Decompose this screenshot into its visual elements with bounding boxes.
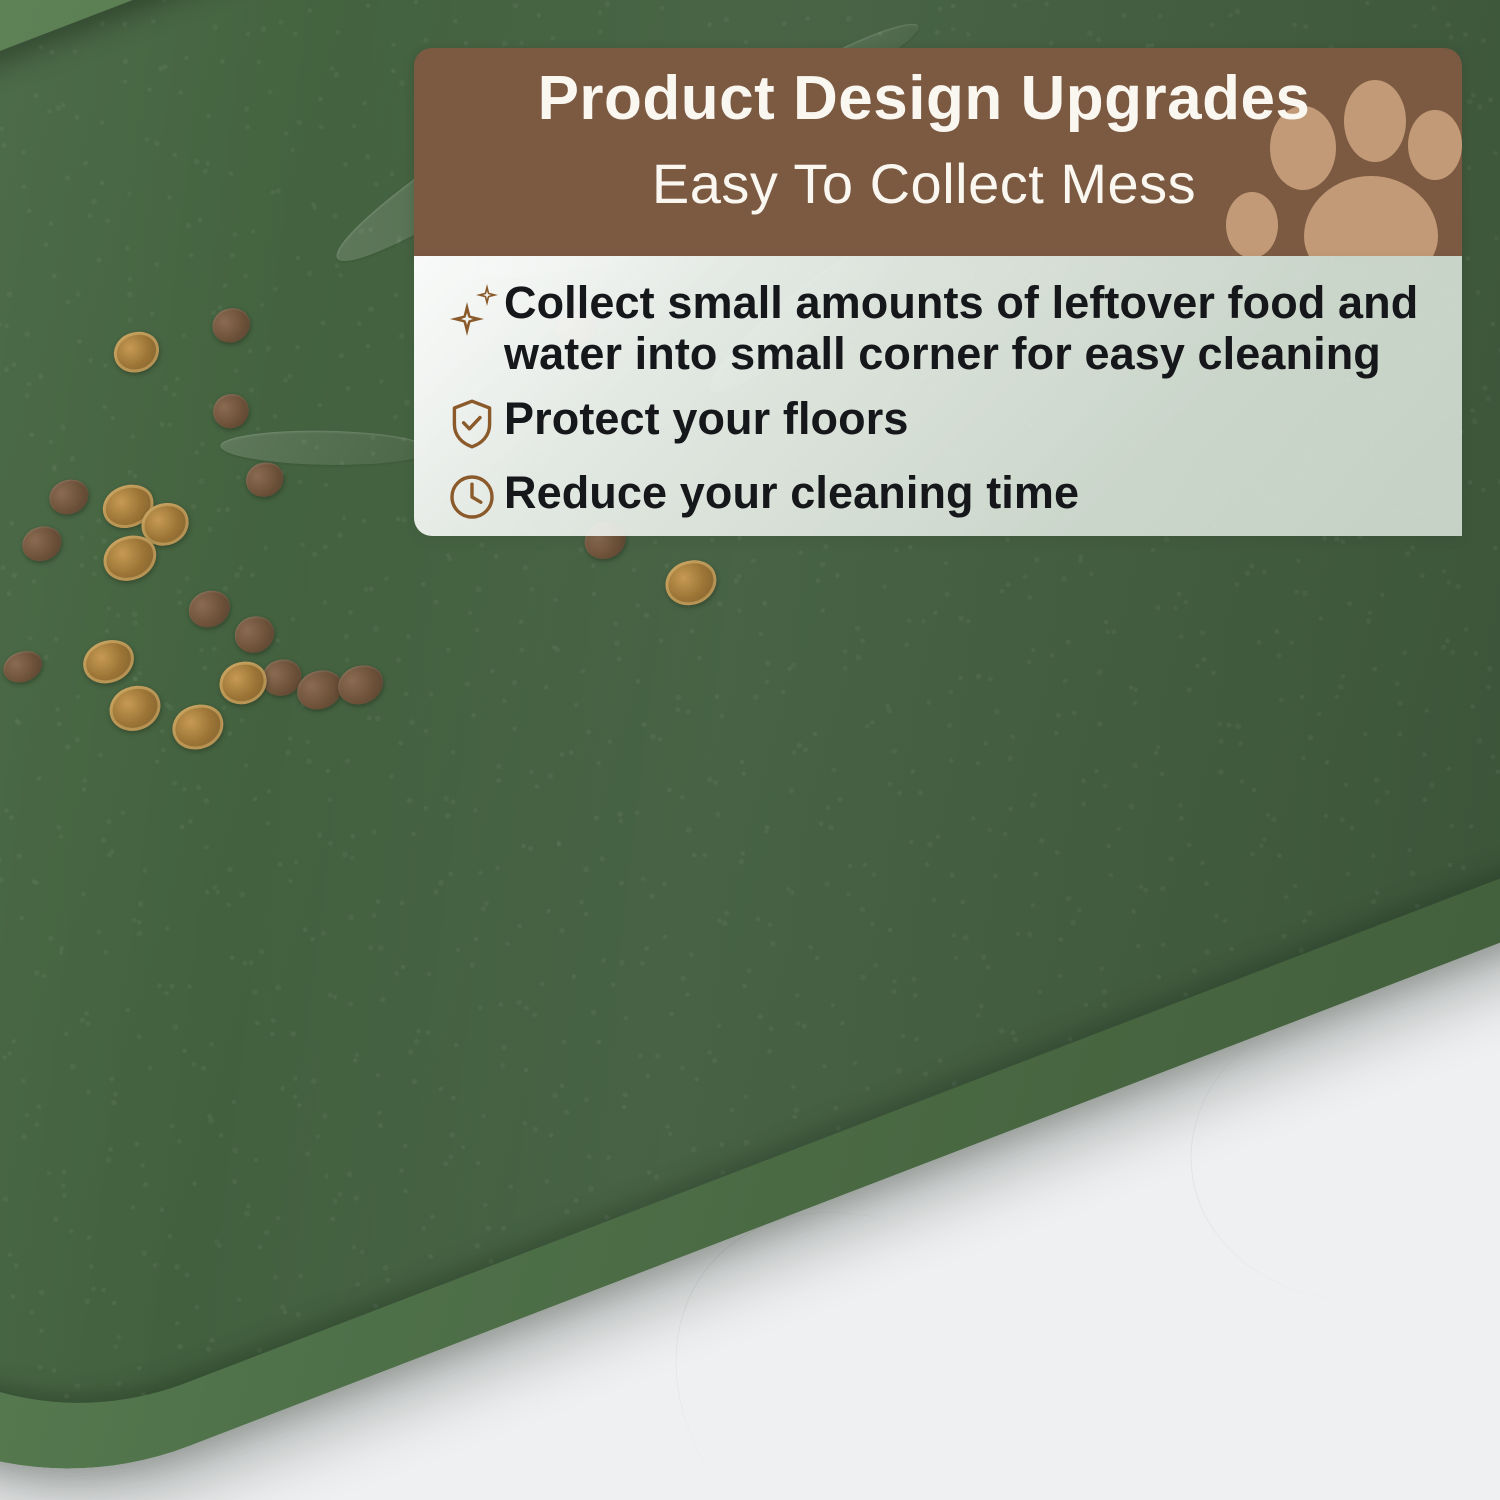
banner-title: Product Design Upgrades — [454, 66, 1394, 132]
feature-item: Reduce your cleaning time — [448, 468, 1440, 528]
features-panel: Collect small amounts of leftover food a… — [414, 256, 1462, 536]
clock-icon — [448, 472, 504, 528]
features-list: Collect small amounts of leftover food a… — [448, 278, 1440, 536]
feature-text: Collect small amounts of leftover food a… — [504, 278, 1440, 380]
header-banner: Product Design Upgrades Easy To Collect … — [414, 48, 1462, 256]
banner-subtitle: Easy To Collect Mess — [454, 154, 1394, 213]
feature-text: Reduce your cleaning time — [504, 468, 1079, 519]
feature-item: Collect small amounts of leftover food a… — [448, 278, 1440, 380]
sparkle-icon — [448, 282, 504, 338]
feature-item: Protect your floors — [448, 394, 1440, 454]
product-image: Suntiel Product Design Up — [0, 0, 1500, 1500]
shield-check-icon — [448, 398, 504, 454]
feature-text: Protect your floors — [504, 394, 908, 445]
